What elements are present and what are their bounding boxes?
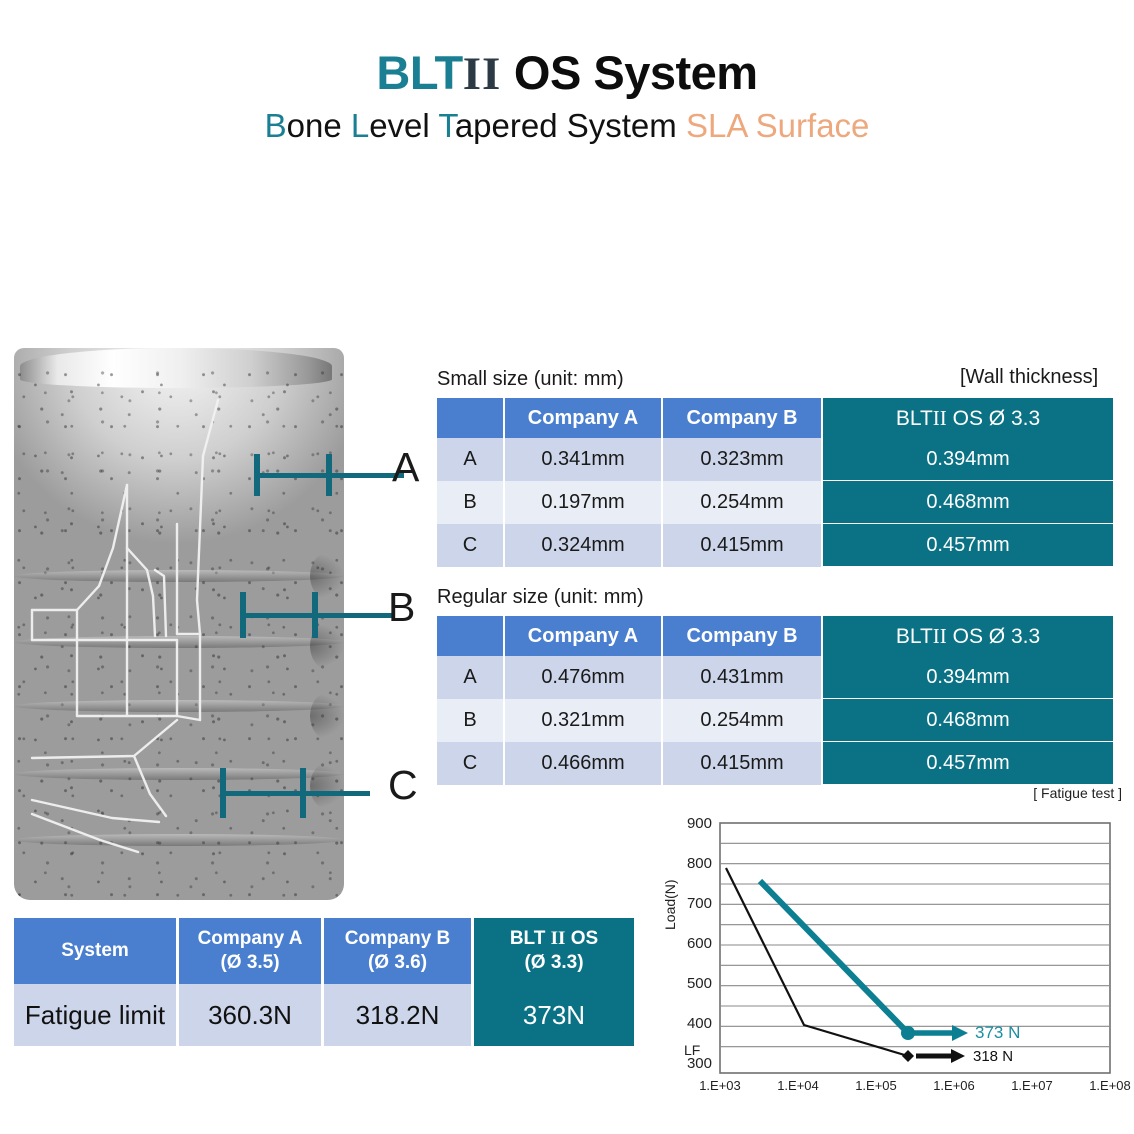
regular-row-label-c: C [437, 742, 505, 785]
regular-blt-text: BLT [896, 625, 933, 648]
regular-a-companyb: 0.431mm [663, 656, 823, 699]
regular-row-label-a: A [437, 656, 505, 699]
regular-col-company-a: Company A [505, 616, 663, 656]
caliper-a-bar [254, 473, 404, 478]
regular-col-blank [437, 616, 505, 656]
fatigue-test-chart: [ Fatigue test ] Load(N) LF 900 800 700 … [660, 785, 1130, 1105]
fatigue-col-system: System [14, 918, 179, 984]
table-header-row: System Company A(Ø 3.5) Company B(Ø 3.6)… [14, 918, 634, 984]
table-row: C 0.324mm 0.415mm 0.457mm [437, 524, 1113, 567]
caliper-marker-a: A [254, 454, 424, 500]
table-header-row: Company A Company B BLTII OS Ø 3.3 [437, 398, 1113, 438]
small-c-blt: 0.457mm [823, 524, 1113, 567]
small-b-companya: 0.197mm [505, 481, 663, 524]
title-block: BLTII OS System Bone Level Tapered Syste… [0, 48, 1134, 144]
regular-b-blt: 0.468mm [823, 699, 1113, 742]
chart-annotation-comparator-value: 318 N [973, 1048, 1013, 1065]
caliper-marker-c: C [220, 768, 400, 818]
small-a-companyb: 0.323mm [663, 438, 823, 481]
subtitle-sla-surface: SLA Surface [686, 107, 869, 144]
page-subtitle: Bone Level Tapered System SLA Surface [0, 108, 1134, 144]
regular-a-blt: 0.394mm [823, 656, 1113, 699]
subtitle-bone-rest: one [287, 107, 351, 144]
small-blt-tail: OS Ø 3.3 [947, 407, 1040, 430]
regular-blt-tail: OS Ø 3.3 [947, 625, 1040, 648]
table-row: B 0.321mm 0.254mm 0.468mm [437, 699, 1113, 742]
subtitle-level-rest: evel [369, 107, 438, 144]
chart-annotation-blt-value: 373 N [975, 1023, 1020, 1043]
slide-canvas: BLTII OS System Bone Level Tapered Syste… [0, 0, 1134, 1134]
table-row: A 0.476mm 0.431mm 0.394mm [437, 656, 1113, 699]
caliper-c-bar [220, 791, 370, 796]
small-col-blank [437, 398, 505, 438]
fatigue-companyb-l1: Company B [345, 928, 451, 949]
table-row: B 0.197mm 0.254mm 0.468mm [437, 481, 1113, 524]
small-size-caption: Small size (unit: mm) [437, 368, 624, 391]
fatigue-limit-table: System Company A(Ø 3.5) Company B(Ø 3.6)… [14, 918, 634, 1046]
caliper-marker-b: B [240, 592, 415, 638]
chart-xtick-1e6: 1.E+06 [921, 1078, 987, 1093]
regular-row-label-b: B [437, 699, 505, 742]
chart-xtick-1e8: 1.E+08 [1077, 1078, 1134, 1093]
table-row: C 0.466mm 0.415mm 0.457mm [437, 742, 1113, 785]
caliper-label-b: B [388, 584, 415, 631]
fatigue-row-label: Fatigue limit [14, 984, 179, 1046]
small-col-company-a: Company A [505, 398, 663, 438]
fatigue-value-companya: 360.3N [179, 984, 324, 1046]
small-a-blt: 0.394mm [823, 438, 1113, 481]
table-header-row: Company A Company B BLTII OS Ø 3.3 [437, 616, 1113, 656]
small-blt-roman: II [933, 406, 947, 430]
small-blt-text: BLT [896, 407, 933, 430]
fatigue-blt-b: OS [565, 928, 598, 949]
regular-blt-roman: II [933, 624, 947, 648]
table-row: A 0.341mm 0.323mm 0.394mm [437, 438, 1113, 481]
small-a-companya: 0.341mm [505, 438, 663, 481]
regular-col-blt-os: BLTII OS Ø 3.3 [823, 616, 1113, 656]
fatigue-blt-l2: (Ø 3.3) [524, 952, 583, 973]
chart-plot-area [660, 785, 1130, 1105]
page-title: BLTII OS System [0, 48, 1134, 100]
small-b-companyb: 0.254mm [663, 481, 823, 524]
small-b-blt: 0.468mm [823, 481, 1113, 524]
small-c-companya: 0.324mm [505, 524, 663, 567]
regular-c-companyb: 0.415mm [663, 742, 823, 785]
title-roman-numeral: II [463, 48, 502, 100]
subtitle-tapered-initial: T [438, 107, 455, 144]
regular-c-companya: 0.466mm [505, 742, 663, 785]
regular-b-companya: 0.321mm [505, 699, 663, 742]
regular-size-caption: Regular size (unit: mm) [437, 586, 644, 609]
regular-col-company-b: Company B [663, 616, 823, 656]
regular-c-blt: 0.457mm [823, 742, 1113, 785]
fatigue-companyb-l2: (Ø 3.6) [368, 952, 427, 973]
fatigue-col-company-a: Company A(Ø 3.5) [179, 918, 324, 984]
small-c-companyb: 0.415mm [663, 524, 823, 567]
regular-b-companyb: 0.254mm [663, 699, 823, 742]
caliper-b-bar [240, 613, 392, 618]
small-size-table: Company A Company B BLTII OS Ø 3.3 A 0.3… [437, 398, 1113, 567]
fatigue-blt-roman: II [551, 928, 566, 949]
title-brand: BLT [376, 46, 462, 99]
regular-a-companya: 0.476mm [505, 656, 663, 699]
chart-xtick-1e5: 1.E+05 [843, 1078, 909, 1093]
chart-xtick-1e7: 1.E+07 [999, 1078, 1065, 1093]
fatigue-value-blt: 373N [474, 984, 634, 1046]
fatigue-col-company-b: Company B(Ø 3.6) [324, 918, 474, 984]
small-col-blt-os: BLTII OS Ø 3.3 [823, 398, 1113, 438]
regular-size-table: Company A Company B BLTII OS Ø 3.3 A 0.4… [437, 616, 1113, 785]
chart-xtick-1e4: 1.E+04 [765, 1078, 831, 1093]
subtitle-bone-initial: B [265, 107, 287, 144]
small-row-label-c: C [437, 524, 505, 567]
table-row: Fatigue limit 360.3N 318.2N 373N [14, 984, 634, 1046]
subtitle-level-initial: L [351, 107, 369, 144]
caliper-label-c: C [388, 762, 418, 809]
small-row-label-b: B [437, 481, 505, 524]
fatigue-companya-l1: Company A [198, 928, 303, 949]
fatigue-blt-a: BLT [510, 928, 551, 949]
title-product: OS System [501, 46, 757, 99]
subtitle-tapered-rest: apered System [455, 107, 686, 144]
caliper-label-a: A [392, 444, 419, 491]
fatigue-col-blt-os: BLT II OS(Ø 3.3) [474, 918, 634, 984]
fatigue-companya-l2: (Ø 3.5) [220, 952, 279, 973]
chart-xtick-1e3: 1.E+03 [687, 1078, 753, 1093]
small-col-company-b: Company B [663, 398, 823, 438]
fatigue-value-companyb: 318.2N [324, 984, 474, 1046]
small-row-label-a: A [437, 438, 505, 481]
wall-thickness-note: [Wall thickness] [960, 366, 1098, 389]
